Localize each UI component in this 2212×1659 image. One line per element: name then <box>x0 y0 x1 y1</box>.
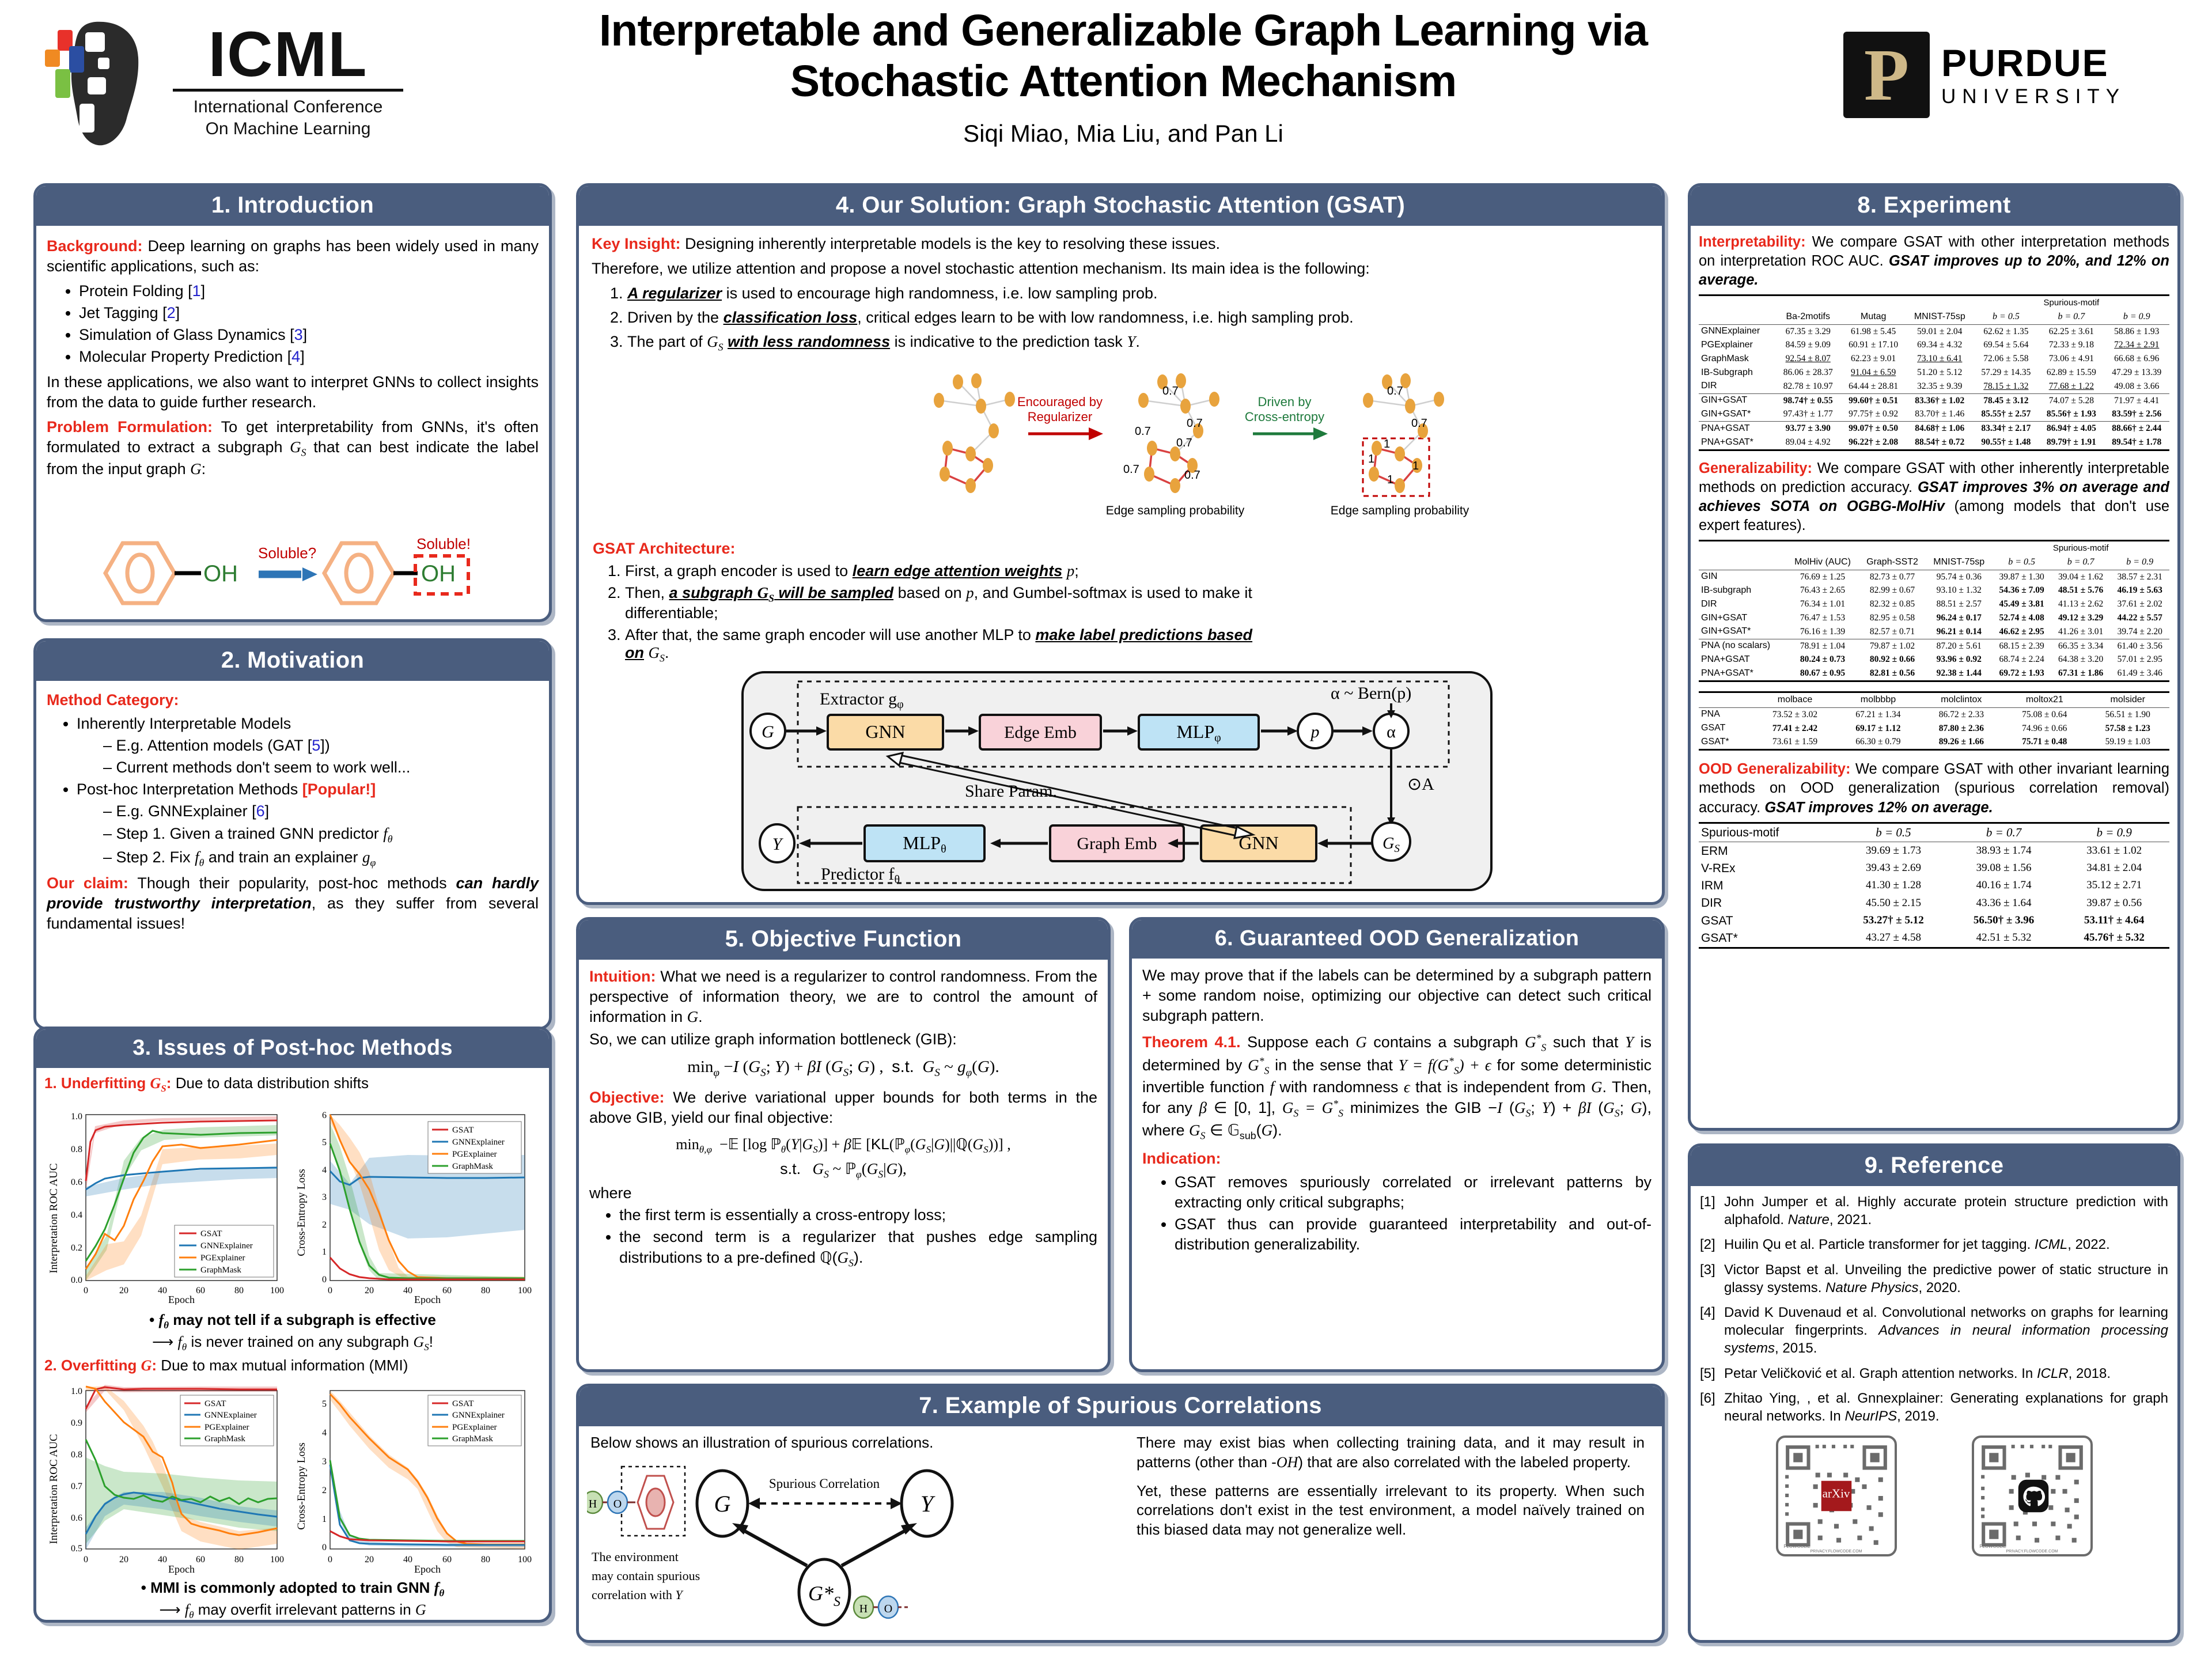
list-item: E.g. GNNExplainer [6] <box>103 801 539 821</box>
reference-year: , 2021. <box>1830 1212 1872 1228</box>
svg-text:0.7: 0.7 <box>1123 463 1139 476</box>
caption-edge-prob-1: Edge sampling probability <box>1106 504 1245 517</box>
list-item: Simulation of Glass Dynamics [3] <box>79 325 539 345</box>
graph-emb-box: Graph Emb <box>1077 834 1157 853</box>
table-row: DIR82.78 ± 10.9764.44 ± 28.8132.35 ± 9.3… <box>1699 380 2169 393</box>
svg-text:20: 20 <box>119 1286 128 1296</box>
panel-introduction: 1. Introduction Background: Deep learnin… <box>33 183 552 622</box>
environment-caption-3: correlation with Y <box>592 1588 684 1602</box>
panel-reference: 9. Reference [1] John Jumper et al. High… <box>1688 1143 2180 1643</box>
spurious-correlation-diagram: H O The environment may contain spurious… <box>587 1456 1117 1629</box>
svg-text:0.7: 0.7 <box>1135 425 1151 438</box>
reference-number: [5] <box>1700 1365 1724 1382</box>
key-insight-text: Designing inherently interpretable model… <box>685 235 1220 252</box>
oh-label-right: OH <box>421 561 456 586</box>
svg-text:0.7: 0.7 <box>1176 437 1192 449</box>
reference-item: [6] Zhitao Ying, , et al. Gnnexplainer: … <box>1700 1389 2168 1425</box>
interpretability-paragraph: Interpretability: We compare GSAT with o… <box>1699 233 2169 290</box>
table-row: V-REx39.43 ± 2.6939.08 ± 1.5634.81 ± 2.0… <box>1699 859 2169 877</box>
panel-ood-generalization: 6. Guaranteed OOD Generalization We may … <box>1129 917 1665 1372</box>
reference-text: Petar Veličković et al. Graph attention … <box>1724 1366 2037 1381</box>
share-param-label: Share Param. <box>965 782 1057 801</box>
svg-text:GSAT: GSAT <box>204 1399 226 1408</box>
panel-title-experiment: 8. Experiment <box>1691 186 2177 226</box>
issue-2-heading: 2. Overfitting G: Due to max mutual info… <box>44 1356 541 1376</box>
svg-text:0: 0 <box>328 1555 332 1565</box>
sub-list: E.g. Attention models (GAT [5]) Current … <box>77 736 539 778</box>
table-ood: Spurious-motif b = 0.5 b = 0.7 b = 0.9 E… <box>1699 822 2169 949</box>
svg-text:5: 5 <box>322 1138 327 1147</box>
list-item: Current methods don't seem to work well.… <box>103 757 539 778</box>
title-block: Interpretable and Generalizable Graph Le… <box>426 6 1820 147</box>
list-item: After that, the same graph encoder will … <box>625 626 1261 664</box>
svg-text:40: 40 <box>403 1286 412 1296</box>
svg-text:60: 60 <box>442 1286 452 1296</box>
panel-spurious-correlations: 7. Example of Spurious Correlations Belo… <box>576 1384 1665 1643</box>
panel-title-objective: 5. Objective Function <box>579 920 1108 960</box>
reference-item: [5] Petar Veličković et al. Graph attent… <box>1700 1365 2168 1382</box>
issue-2-bullet-1: • MMI is commonly adopted to train GNN f… <box>44 1578 541 1600</box>
svg-text:1.0: 1.0 <box>71 1387 82 1396</box>
reference-venue: Nature Physics <box>1825 1280 1918 1296</box>
step-text: is used to encourage high randomness, i.… <box>722 285 1157 302</box>
table-row: PNA (no scalars)78.91 ± 1.0479.87 ± 1.02… <box>1699 639 2169 653</box>
panel-title-motivation: 2. Motivation <box>36 641 549 681</box>
svg-text:GraphMask: GraphMask <box>204 1434 245 1444</box>
ref-number[interactable]: 6 <box>256 802 265 820</box>
svg-text:Epoch: Epoch <box>414 1563 441 1575</box>
predictor-label: Predictor fθ <box>821 865 900 886</box>
svg-text:40: 40 <box>158 1286 167 1296</box>
table-interpretation: Spurious-motif Ba-2motifs Mutag MNIST-75… <box>1699 294 2169 450</box>
panel-objective-function: 5. Objective Function Intuition: What we… <box>576 917 1111 1372</box>
svg-text:0.7: 0.7 <box>1184 469 1200 482</box>
col-header: b = 0.5 <box>1838 823 1949 842</box>
col-header: b = 0.7 <box>2051 555 2111 570</box>
gib-intro-text: So, we can utilize graph information bot… <box>589 1029 1097 1050</box>
step-emphasis: classification loss <box>724 309 858 326</box>
svg-text:20: 20 <box>365 1286 374 1296</box>
gnn-extractor-box: GNN <box>865 721 905 742</box>
list-item-label: Jet Tagging <box>79 304 158 321</box>
list-item: GSAT removes spuriously correlated or ir… <box>1175 1172 1652 1213</box>
method-category-label: Method Category: <box>47 690 539 710</box>
icml-logo: ICML International Conference On Machine… <box>35 12 415 156</box>
svg-text:0.8: 0.8 <box>71 1450 82 1460</box>
list-item-label: Molecular Property Prediction <box>79 348 283 365</box>
chart-underfit-auc: Interpretation ROC AUC 1.00.80.6 0.40.20… <box>49 1097 291 1305</box>
col-header: molbbbp <box>1836 692 1919 708</box>
svg-text:GSAT: GSAT <box>200 1229 222 1238</box>
problem-formulation-paragraph: Problem Formulation: To get interpretabi… <box>47 417 539 480</box>
icml-divider <box>173 89 403 92</box>
table-row: GSAT*43.27 ± 4.5842.51 ± 5.3245.76† ± 5.… <box>1699 930 2169 948</box>
gsat-architecture-steps: First, a graph encoder is used to learn … <box>593 562 1261 665</box>
atom-o-right: O <box>884 1603 892 1615</box>
odot-a-label: ⊙A <box>1407 775 1434 794</box>
extractor-label: Extractor gφ <box>820 690 904 711</box>
table-row: PNA+GSAT80.24 ± 0.7380.92 ± 0.6693.96 ± … <box>1699 653 2169 667</box>
table-row: PNA73.52 ± 3.0267.21 ± 1.3486.72 ± 2.337… <box>1699 708 2169 722</box>
reference-year: , 2018. <box>2069 1366 2111 1381</box>
col-header: MNIST-75sp <box>1926 555 1992 570</box>
col-header: MolHiv (AUC) <box>1786 555 1859 570</box>
objective-text: We derive variational upper bounds for b… <box>589 1089 1097 1126</box>
ref-number[interactable]: 3 <box>294 326 303 343</box>
spurious-right-p1: There may exist bias when collecting tra… <box>1137 1433 1645 1472</box>
svg-text:1: 1 <box>1387 474 1393 486</box>
node-p: p <box>1310 722 1320 741</box>
where-list: the first term is essentially a cross-en… <box>589 1205 1097 1270</box>
table-row: GIN+GSAT*76.16 ± 1.3982.57 ± 0.7196.21 ±… <box>1699 625 2169 639</box>
ref-number[interactable]: 2 <box>167 304 176 321</box>
list-item: E.g. Attention models (GAT [5]) <box>103 736 539 756</box>
mlp-phi-box: MLPφ <box>1176 721 1221 744</box>
svg-text:0.6: 0.6 <box>71 1177 82 1187</box>
table-row: PNA+GSAT*80.67 ± 0.9582.81 ± 0.5692.38 ±… <box>1699 666 2169 681</box>
svg-text:PGExplainer: PGExplainer <box>452 1423 497 1432</box>
svg-text:100: 100 <box>518 1286 532 1296</box>
svg-text:1: 1 <box>1412 460 1419 472</box>
table-group-header: Spurious-motif <box>1974 296 2169 310</box>
flowcode-label: FLOWCODE <box>1784 1544 1810 1550</box>
svg-text:1.0: 1.0 <box>71 1112 82 1122</box>
table-row: ERM39.69 ± 1.7338.93 ± 1.7433.61 ± 1.02 <box>1699 842 2169 859</box>
list-item: Step 1. Given a trained GNN predictor fθ <box>103 824 539 846</box>
equation-final-objective: minθ,φ −𝔼 [log ℙθ(Y|GS)] + β𝔼 [KL(ℙφ(GS|… <box>589 1135 1097 1156</box>
step-pre: After that, the same graph encoder will … <box>625 626 1035 643</box>
intuition-paragraph: Intuition: What we need is a regularizer… <box>589 967 1097 1027</box>
list-item: Molecular Property Prediction [4] <box>79 347 539 367</box>
list-item-label: Simulation of Glass Dynamics <box>79 326 286 343</box>
ood-paragraph: OOD Generalizability: We compare GSAT wi… <box>1699 760 2169 817</box>
icml-brain-icon <box>40 17 167 150</box>
table-row: DIR76.34 ± 1.0182.32 ± 0.8588.51 ± 2.574… <box>1699 597 2169 611</box>
step-emphasis: A regularizer <box>627 285 722 302</box>
table-row: PNA+GSAT93.77 ± 3.9099.07† ± 0.5084.68† … <box>1699 422 2169 435</box>
svg-text:3: 3 <box>322 1192 327 1202</box>
svg-text:100: 100 <box>270 1555 284 1565</box>
purdue-university-label: UNIVERSITY <box>1941 86 2126 107</box>
svg-text:100: 100 <box>270 1286 284 1296</box>
svg-text:1: 1 <box>1384 438 1390 450</box>
col-header: b = 0.7 <box>2039 310 2104 324</box>
purdue-logo: P PURDUE UNIVERSITY <box>1843 23 2183 127</box>
table-row: DIR45.50 ± 2.1543.36 ± 1.6439.87 ± 0.56 <box>1699 895 2169 912</box>
reference-venue: NeurIPS <box>1844 1408 1897 1424</box>
svg-text:Cross-Entropy Loss: Cross-Entropy Loss <box>297 1169 308 1256</box>
molecule-illustration: OH Soluble? OH Soluble! <box>88 532 526 618</box>
svg-text:GNNExplainer: GNNExplainer <box>204 1411 257 1420</box>
panel-title-issues: 3. Issues of Post-hoc Methods <box>36 1029 549 1068</box>
problem-formulation-label: Problem Formulation: <box>47 418 213 435</box>
key-insight-label: Key Insight: <box>592 235 681 252</box>
qr-code-github[interactable]: FLOWCODE PRIVACY.FLOWCODE.COM <box>1972 1435 2093 1556</box>
reference-item: [4] David K Duvenaud et al. Convolutiona… <box>1700 1304 2168 1358</box>
reference-year: , 2015. <box>1775 1340 1817 1356</box>
svg-text:0.7: 0.7 <box>71 1482 82 1491</box>
equation-gib: minφ −I (GS; Y) + βI (GS; G) , s.t. GS ~… <box>589 1056 1097 1081</box>
svg-text:1: 1 <box>1368 453 1374 465</box>
svg-text:0.7: 0.7 <box>1187 417 1203 430</box>
mlp-theta-box: MLPθ <box>903 832 946 855</box>
objective-label: Objective: <box>589 1089 665 1106</box>
arrow-label-encouraged-1: Encouraged by <box>1017 395 1103 409</box>
svg-text:GraphMask: GraphMask <box>452 1162 493 1171</box>
purdue-wordmark: PURDUE <box>1941 44 2126 82</box>
atom-h-left: H <box>589 1498 597 1510</box>
issue-1-bullet-1: • fθ may not tell if a subgraph is effec… <box>44 1310 541 1332</box>
svg-text:60: 60 <box>196 1286 205 1296</box>
gsat-architecture-label: GSAT Architecture: <box>593 540 1261 558</box>
spurious-right-p2: Yet, these patterns are essentially irre… <box>1137 1482 1645 1540</box>
svg-text:0.7: 0.7 <box>1387 385 1403 397</box>
chart-overfit-loss: Cross-Entropy Loss 543 210 02040 6080100… <box>297 1377 539 1575</box>
ref-number[interactable]: 1 <box>192 282 201 300</box>
atom-h-right: H <box>859 1603 868 1615</box>
step-pre: Driven by the <box>627 309 724 326</box>
spurious-intro: Below shows an illustration of spurious … <box>590 1433 1126 1453</box>
svg-text:0.4: 0.4 <box>71 1210 82 1220</box>
svg-text:GNNExplainer: GNNExplainer <box>452 1138 505 1147</box>
node-alpha: α <box>1387 722 1396 741</box>
svg-text:60: 60 <box>442 1555 452 1565</box>
svg-text:80: 80 <box>481 1286 490 1296</box>
ref-number[interactable]: 4 <box>291 348 300 365</box>
panel-title-introduction: 1. Introduction <box>36 186 549 226</box>
soluble-question-label: Soluble? <box>258 544 316 562</box>
list-item: Post-hoc Interpretation Methods [Popular… <box>77 779 539 869</box>
svg-text:2: 2 <box>322 1486 327 1495</box>
issue-2-number: 2. <box>44 1357 57 1374</box>
svg-text:Cross-Entropy Loss: Cross-Entropy Loss <box>297 1443 308 1530</box>
svg-text:5: 5 <box>322 1399 327 1409</box>
table-group-header: Spurious-motif <box>1992 541 2169 555</box>
our-claim-text: Though their popularity, post-hoc method… <box>137 874 446 892</box>
node-y-spurious: Y <box>921 1491 935 1517</box>
svg-text:2: 2 <box>322 1220 327 1230</box>
svg-text:GNNExplainer: GNNExplainer <box>200 1241 253 1251</box>
our-claim-label: Our claim: <box>47 874 128 892</box>
reference-year: , 2022. <box>2067 1237 2109 1252</box>
panel-experiment: 8. Experiment Interpretability: We compa… <box>1688 183 2180 1131</box>
qr-code-arxiv[interactable]: arXiv FLOWCODE PRIVACY.FLOWCODE.COM <box>1776 1435 1897 1556</box>
ood-highlight: GSAT improves 12% on average. <box>1764 800 1993 816</box>
svg-text:80: 80 <box>481 1555 490 1565</box>
atom-o-left: O <box>613 1498 622 1510</box>
list-item: Inherently Interpretable Models E.g. Att… <box>77 714 539 778</box>
reference-number: [1] <box>1700 1193 1724 1229</box>
environment-caption-1: The environment <box>592 1550 679 1564</box>
issue-1-text: Due to data distribution shifts <box>176 1074 369 1092</box>
svg-text:0.8: 0.8 <box>71 1145 82 1154</box>
svg-text:0: 0 <box>328 1286 332 1296</box>
table-row: GIN+GSAT76.47 ± 1.5382.95 ± 0.5896.24 ± … <box>1699 611 2169 625</box>
table-row: GIN76.69 ± 1.2582.73 ± 0.7795.74 ± 0.363… <box>1699 570 2169 584</box>
issue-1-heading: 1. Underfitting GS: Due to data distribu… <box>44 1074 541 1095</box>
chart-row-overfitting: Interpretation ROC AUC 1.00.90.8 0.70.60… <box>44 1377 541 1578</box>
where-label: where <box>589 1183 1097 1203</box>
background-label: Background: <box>47 237 143 255</box>
list-item-label: Inherently Interpretable Models <box>77 715 291 732</box>
col-header: b = 0.7 <box>1949 823 2059 842</box>
ref-number[interactable]: 5 <box>312 737 320 754</box>
issue-1-bullet-2: ⟶ fθ is never trained on any subgraph GS… <box>44 1332 541 1354</box>
gsat-architecture-block: GSAT Architecture: First, a graph encode… <box>593 540 1261 669</box>
reference-venue: ICLR <box>2037 1366 2069 1381</box>
list-item-label: Protein Folding <box>79 282 184 300</box>
svg-text:0: 0 <box>322 1275 327 1285</box>
caption-edge-prob-2: Edge sampling probability <box>1331 504 1469 517</box>
svg-text:0.9: 0.9 <box>71 1418 82 1428</box>
panel-title-our-solution: 4. Our Solution: Graph Stochastic Attent… <box>579 186 1662 226</box>
list-item: GSAT thus can provide guaranteed interpr… <box>1175 1214 1652 1255</box>
spurious-left-column: Below shows an illustration of spurious … <box>590 1433 1126 1540</box>
svg-text:100: 100 <box>518 1555 532 1565</box>
list-item: Protein Folding [1] <box>79 281 539 301</box>
col-header: MNIST-75sp <box>1906 310 1974 324</box>
generalizability-label: Generalizability: <box>1699 460 1812 476</box>
table-generalizability: Spurious-motif MolHiv (AUC) Graph-SST2 M… <box>1699 540 2169 682</box>
col-header: molsider <box>2086 692 2169 708</box>
application-list: Protein Folding [1] Jet Tagging [2] Simu… <box>47 281 539 367</box>
col-header: b = 0.9 <box>2059 823 2169 842</box>
issue-1-number: 1. <box>44 1074 57 1092</box>
list-item-label: Post-hoc Interpretation Methods <box>77 781 298 798</box>
table-row: GIN+GSAT98.74† ± 0.5599.60† ± 0.5183.36†… <box>1699 394 2169 408</box>
arrow-label-encouraged-2: Regularizer <box>1028 410 1093 424</box>
our-claim-paragraph: Our claim: Though their popularity, post… <box>47 873 539 934</box>
list-item: The part of GS with less randomness is i… <box>627 332 1649 354</box>
svg-text:GraphMask: GraphMask <box>452 1434 493 1444</box>
table-row: IRM41.30 ± 1.2840.16 ± 1.7435.12 ± 2.71 <box>1699 877 2169 895</box>
arrow-icon <box>259 567 317 581</box>
sub-list: E.g. GNNExplainer [6] Step 1. Given a tr… <box>77 801 539 869</box>
table-row: GSAT53.27† ± 5.1256.50† ± 3.9653.11† ± 4… <box>1699 912 2169 929</box>
reference-item: [3] Victor Bapst et al. Unveiling the pr… <box>1700 1261 2168 1297</box>
svg-text:0.0: 0.0 <box>71 1275 82 1285</box>
ood-intro: We may prove that if the labels can be d… <box>1142 965 1652 1026</box>
flowcode-label: FLOWCODE <box>1980 1544 2006 1550</box>
panel-title-reference: 9. Reference <box>1691 1146 2177 1186</box>
panel-motivation: 2. Motivation Method Category: Inherentl… <box>33 638 552 1030</box>
svg-text:20: 20 <box>365 1555 374 1565</box>
svg-text:40: 40 <box>158 1555 167 1565</box>
list-item: A regularizer is used to encourage high … <box>627 283 1649 304</box>
list-item: First, a graph encoder is used to learn … <box>625 562 1261 580</box>
reference-item: [1] John Jumper et al. Highly accurate p… <box>1700 1193 2168 1229</box>
list-item: Driven by the classification loss, criti… <box>627 308 1649 328</box>
issue-2-bullet-3: ⟶ Explainer gφ may extract these pattern… <box>44 1622 541 1623</box>
svg-text:GSAT: GSAT <box>452 1399 474 1408</box>
table-row: IB-subgraph76.43 ± 2.6582.99 ± 0.6793.10… <box>1699 584 2169 598</box>
ood-label: OOD Generalizability: <box>1699 761 1850 777</box>
gsat-architecture-diagram: Extractor gφ α ~ Bern(p) G GNN Edge Emb … <box>734 669 1501 893</box>
svg-text:20: 20 <box>119 1555 128 1565</box>
indication-label: Indication: <box>1142 1149 1652 1169</box>
svg-text:80: 80 <box>234 1286 244 1296</box>
node-g: G <box>762 722 774 741</box>
reference-number: [2] <box>1700 1236 1724 1253</box>
svg-text:PGExplainer: PGExplainer <box>200 1253 245 1263</box>
svg-text:0.7: 0.7 <box>1162 385 1179 397</box>
svg-text:0: 0 <box>322 1543 327 1552</box>
svg-text:PGExplainer: PGExplainer <box>452 1150 497 1159</box>
table-row: GNNExplainer67.35 ± 3.2961.98 ± 5.4559.0… <box>1699 325 2169 339</box>
col-header: b = 0.9 <box>2104 310 2169 324</box>
panel-title-ood: 6. Guaranteed OOD Generalization <box>1132 920 1662 959</box>
icml-subtitle-2: On Machine Learning <box>206 118 371 140</box>
icml-subtitle-1: International Conference <box>194 96 383 118</box>
svg-text:4: 4 <box>322 1165 327 1175</box>
col-header: molclintox <box>1920 692 2003 708</box>
privacy-label: PRIVACY.FLOWCODE.COM <box>2006 1549 2058 1554</box>
svg-text:0: 0 <box>84 1286 88 1296</box>
svg-text:1: 1 <box>322 1247 327 1257</box>
table-row: GIN+GSAT*97.43† ± 1.7797.75† ± 0.9283.70… <box>1699 408 2169 422</box>
list-item: Step 2. Fix fθ and train an explainer gφ <box>103 847 539 870</box>
step-pre: First, a graph encoder is used to <box>625 562 853 579</box>
theorem-paragraph: Theorem 4.1. Suppose each G contains a s… <box>1142 1032 1652 1142</box>
svg-text:Epoch: Epoch <box>414 1294 441 1305</box>
arrow-icon-1 <box>1028 427 1103 440</box>
table-row: PNA+GSAT*89.04 ± 4.9296.22† ± 2.0888.54†… <box>1699 435 2169 450</box>
table-row: GSAT77.41 ± 2.4269.17 ± 1.1287.80 ± 2.36… <box>1699 722 2169 736</box>
svg-text:Epoch: Epoch <box>168 1563 195 1575</box>
background-paragraph: Background: Deep learning on graphs has … <box>47 236 539 276</box>
node-g-spurious: G <box>714 1491 731 1517</box>
poster-title-line-1: Interpretable and Generalizable Graph Le… <box>426 6 1820 56</box>
svg-text:0: 0 <box>84 1555 88 1565</box>
step-emphasis: with less randomness <box>728 333 890 350</box>
arrow-label-driven-2: Cross-entropy <box>1245 410 1324 424</box>
col-header: b = 0.5 <box>1992 555 2051 570</box>
spurious-edge-label: Spurious Correlation <box>769 1476 880 1491</box>
issue-2-text: Due to max mutual information (MMI) <box>161 1357 408 1374</box>
equation-constraint: s.t. GS ~ ℙφ(GS|G), <box>589 1159 1097 1181</box>
reference-year: , 2020. <box>1918 1280 1960 1296</box>
reference-item: [2] Huilin Qu et al. Particle transforme… <box>1700 1236 2168 1253</box>
svg-text:0.5: 0.5 <box>71 1544 82 1554</box>
method-category-list: Inherently Interpretable Models E.g. Att… <box>47 714 539 870</box>
list-item: the second term is a regularizer that pu… <box>619 1227 1097 1270</box>
svg-text:GNNExplainer: GNNExplainer <box>452 1411 505 1420</box>
panel-title-spurious: 7. Example of Spurious Correlations <box>579 1387 1662 1426</box>
table-row: GSAT*73.61 ± 1.5966.30 ± 0.7989.26 ± 1.6… <box>1699 736 2169 750</box>
col-header: b = 0.9 <box>2110 555 2169 570</box>
solution-steps: A regularizer is used to encourage high … <box>592 283 1649 354</box>
intro-paragraph-2: In these applications, we also want to i… <box>47 372 539 412</box>
svg-text:Interpretation ROC AUC: Interpretation ROC AUC <box>49 1164 60 1274</box>
environment-caption-2: may contain spurious <box>592 1569 700 1583</box>
arxiv-label: arXiv <box>1823 1486 1850 1501</box>
reference-number: [3] <box>1700 1261 1724 1297</box>
svg-text:0.6: 0.6 <box>71 1513 82 1523</box>
intuition-text: What we need is a regularizer to control… <box>589 968 1097 1025</box>
arrow-label-driven-1: Driven by <box>1258 395 1312 409</box>
reference-number: [4] <box>1700 1304 1724 1358</box>
col-header: Spurious-motif <box>1699 823 1838 842</box>
key-insight-paragraph: Key Insight: Designing inherently interp… <box>592 234 1649 254</box>
svg-text:6: 6 <box>322 1111 327 1120</box>
svg-text:0.2: 0.2 <box>71 1243 82 1253</box>
svg-text:40: 40 <box>403 1555 412 1565</box>
table-row: GraphMask92.54 ± 8.0762.23 ± 9.0173.10 ±… <box>1699 352 2169 366</box>
svg-text:3: 3 <box>322 1457 327 1467</box>
list-item: the first term is essentially a cross-en… <box>619 1205 1097 1225</box>
table-row: IB-Subgraph86.06 ± 28.3791.04 ± 6.5951.2… <box>1699 366 2169 380</box>
reference-number: [6] <box>1700 1389 1724 1425</box>
